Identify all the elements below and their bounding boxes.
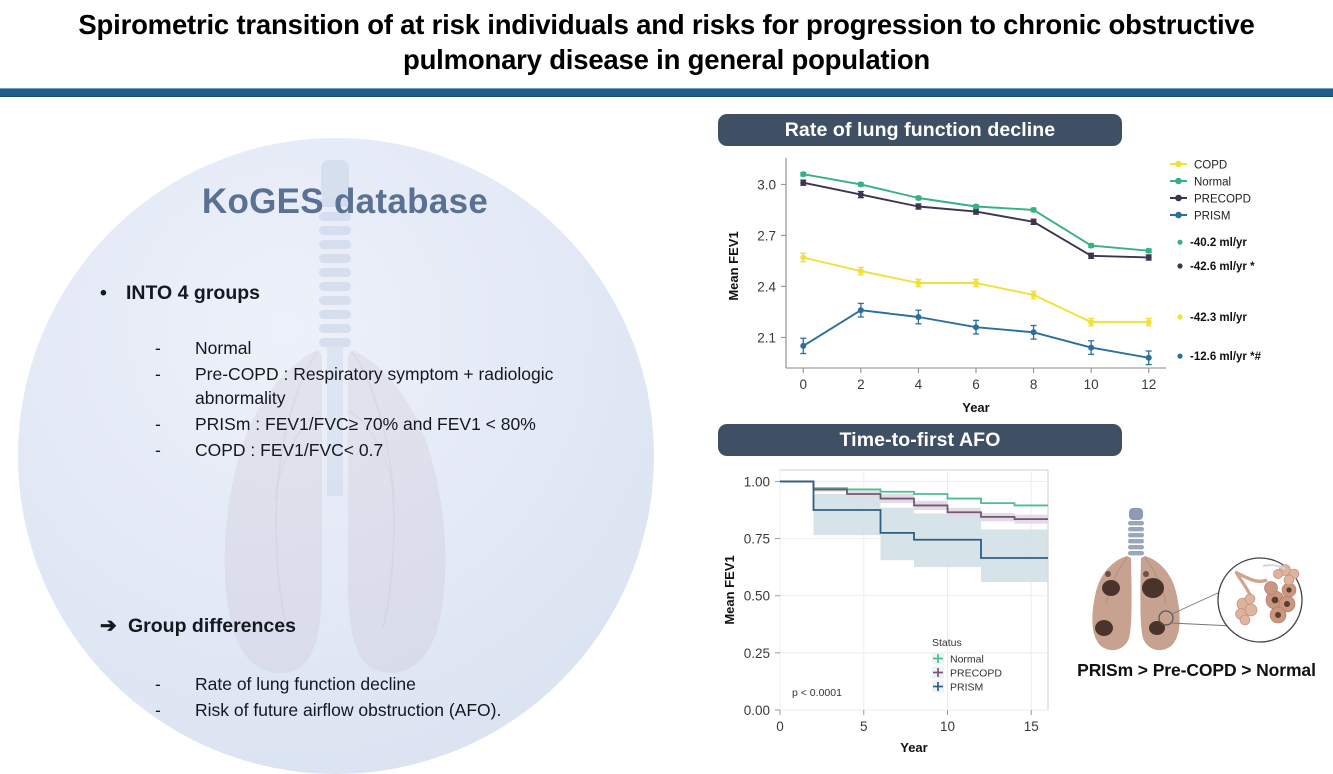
- prism-comparison-caption: PRISm > Pre-COPD > Normal: [1060, 660, 1333, 681]
- svg-text:p < 0.0001: p < 0.0001: [792, 687, 842, 699]
- lung-alveoli-illustration: [1075, 500, 1325, 680]
- group-label-copd: COPD : FEV1/FVC< 0.7: [195, 438, 625, 463]
- difference-label-decline: Rate of lung function decline: [195, 672, 416, 698]
- bullet-group-differences: ➔Group differences: [100, 613, 620, 638]
- svg-text:-40.2 ml/yr: -40.2 ml/yr: [1190, 237, 1247, 249]
- svg-text:1.00: 1.00: [744, 474, 770, 489]
- svg-text:Mean FEV1: Mean FEV1: [722, 555, 737, 624]
- chart1-series: [800, 171, 1151, 364]
- svg-text:PRISM: PRISM: [1194, 210, 1230, 222]
- svg-text:0: 0: [776, 719, 784, 734]
- svg-text:10: 10: [1084, 377, 1099, 392]
- svg-text:Normal: Normal: [1194, 176, 1231, 188]
- chart1-axes: 2.12.42.73.0024681012YearMean FEV1: [726, 158, 1166, 415]
- svg-text:PRECOPD: PRECOPD: [1194, 193, 1251, 205]
- group-label-precopd: Pre-COPD : Respiratory symptom + radiolo…: [195, 362, 625, 411]
- svg-text:0.50: 0.50: [744, 589, 770, 604]
- list-item: - Normal: [155, 336, 625, 361]
- dash-marker: -: [155, 412, 195, 437]
- svg-text:Year: Year: [962, 400, 989, 415]
- rate-of-lung-function-decline-chart: 2.12.42.73.0024681012YearMean FEV1 COPDN…: [718, 150, 1333, 415]
- group-label-prism: PRISm : FEV1/FVC≥ 70% and FEV1 < 80%: [195, 412, 625, 437]
- trachea-icon: [1128, 508, 1144, 555]
- dash-marker: -: [155, 438, 195, 463]
- list-item: - Rate of lung function decline: [155, 672, 625, 698]
- svg-text:6: 6: [972, 377, 980, 392]
- list-item: - PRISm : FEV1/FVC≥ 70% and FEV1 < 80%: [155, 412, 625, 437]
- arrow-right-icon: ➔: [100, 613, 128, 638]
- title-divider: [0, 88, 1333, 97]
- svg-text:12: 12: [1141, 377, 1156, 392]
- svg-text:PRECOPD: PRECOPD: [950, 668, 1002, 680]
- list-item: - Pre-COPD : Respiratory symptom + radio…: [155, 362, 625, 411]
- svg-text:0: 0: [800, 377, 808, 392]
- svg-text:Mean FEV1: Mean FEV1: [726, 231, 741, 300]
- list-item: - Risk of future airflow obstruction (AF…: [155, 698, 625, 724]
- chart1-legend: COPDNormalPRECOPDPRISM: [1170, 159, 1251, 222]
- svg-text:4: 4: [915, 377, 923, 392]
- bullet-into-groups-label: INTO 4 groups: [126, 282, 260, 304]
- svg-text:-12.6 ml/yr *#: -12.6 ml/yr *#: [1190, 351, 1262, 363]
- group-differences-list: - Rate of lung function decline - Risk o…: [155, 672, 625, 723]
- chart2-header: Time-to-first AFO: [718, 424, 1122, 456]
- group-label-normal: Normal: [195, 336, 625, 361]
- svg-text:0.75: 0.75: [744, 532, 770, 547]
- koges-heading: KoGES database: [0, 182, 690, 222]
- svg-text:-42.3 ml/yr: -42.3 ml/yr: [1190, 312, 1247, 324]
- svg-text:10: 10: [940, 719, 955, 734]
- dash-marker: -: [155, 698, 195, 724]
- chart1-header: Rate of lung function decline: [718, 114, 1122, 146]
- svg-text:COPD: COPD: [1194, 159, 1227, 171]
- dash-marker: -: [155, 672, 195, 698]
- svg-text:Normal: Normal: [950, 654, 984, 666]
- svg-text:2.4: 2.4: [757, 279, 776, 294]
- svg-text:Year: Year: [900, 740, 927, 755]
- svg-text:3.0: 3.0: [757, 177, 776, 192]
- time-to-first-afo-chart: 0.000.250.500.751.00051015YearMean FEV1p…: [718, 458, 1063, 756]
- title-block: Spirometric transition of at risk indivi…: [0, 0, 1333, 84]
- chart1-annotations: -40.2 ml/yr-42.6 ml/yr *-42.3 ml/yr-12.6…: [1177, 237, 1261, 363]
- svg-text:5: 5: [860, 719, 868, 734]
- svg-text:Status: Status: [932, 637, 962, 649]
- svg-text:0.00: 0.00: [744, 703, 770, 718]
- svg-text:2.1: 2.1: [757, 330, 776, 345]
- dash-marker: -: [155, 336, 195, 361]
- svg-text:8: 8: [1030, 377, 1038, 392]
- page-title: Spirometric transition of at risk indivi…: [47, 7, 1287, 77]
- svg-text:PRISM: PRISM: [950, 682, 983, 694]
- dash-marker: -: [155, 362, 195, 411]
- svg-text:2.7: 2.7: [757, 228, 776, 243]
- svg-text:0.25: 0.25: [744, 646, 770, 661]
- list-item: - COPD : FEV1/FVC< 0.7: [155, 438, 625, 463]
- bullet-into-groups: •INTO 4 groups: [100, 282, 620, 305]
- difference-label-afo: Risk of future airflow obstruction (AFO)…: [195, 698, 501, 724]
- svg-text:-42.6 ml/yr *: -42.6 ml/yr *: [1190, 261, 1255, 273]
- svg-text:2: 2: [857, 377, 865, 392]
- bullet-group-differences-label: Group differences: [128, 615, 296, 637]
- group-definitions-list: - Normal - Pre-COPD : Respiratory sympto…: [155, 336, 625, 463]
- left-panel: KoGES database •INTO 4 groups - Normal -…: [0, 100, 690, 756]
- bullet-dot-icon: •: [100, 282, 126, 305]
- svg-text:15: 15: [1024, 719, 1039, 734]
